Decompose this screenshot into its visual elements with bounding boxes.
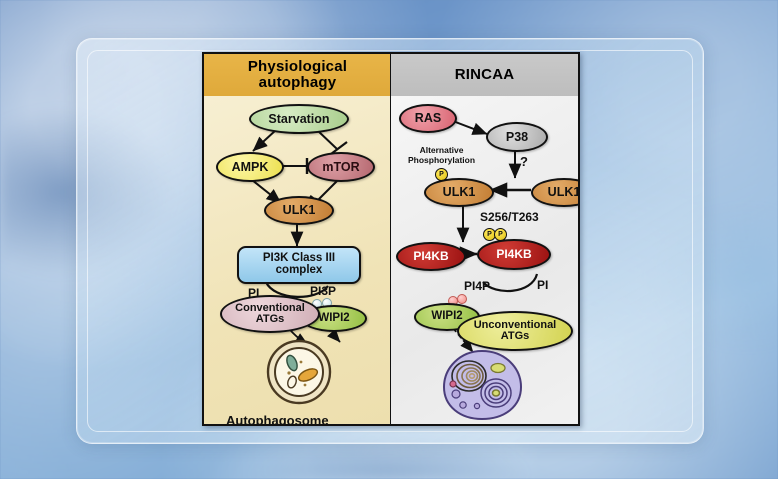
panel-left-title-line1: Physiological [248,58,347,75]
panel-left-body: Starvation AMPK mTOR ULK1 PI3K Class III… [204,96,391,424]
label-pi3p: PI3P [310,284,336,298]
node-pi3k-class-iii-complex[interactable]: PI3K Class III complex [237,246,361,284]
label-autophagosome: Autophagosome [226,413,329,424]
panel-physiological-autophagy: Physiological autophagy [204,54,391,424]
node-mtor-label: mTOR [322,161,359,174]
pathway-figure: Physiological autophagy [202,52,580,426]
node-pi3k-label-line1: PI3K Class III [263,252,335,264]
node-pi4kb-phospho[interactable]: PI4KB [477,239,551,270]
label-pi4p: PI4P [464,279,490,293]
node-p38-label: P38 [506,131,528,144]
node-conventional-atgs[interactable]: Conventional ATGs [220,295,320,333]
node-ras[interactable]: RAS [399,104,457,133]
annotation-alternative-phosphorylation: Alternative Phosphorylation [408,146,475,166]
node-conventional-atgs-line1: Conventional [235,302,305,314]
annotation-alt-phos-line2: Phosphorylation [408,155,475,165]
node-wipi2-right-label: WIPI2 [431,311,462,323]
node-mtor[interactable]: mTOR [307,152,375,182]
organelle-rimmba [439,348,525,422]
node-ampk-label: AMPK [232,161,269,174]
node-pi4kb-phospho-label: PI4KB [496,248,531,260]
label-pi-right: PI [537,278,548,292]
node-p38[interactable]: P38 [486,122,548,152]
node-starvation[interactable]: Starvation [249,104,349,134]
node-pi4kb[interactable]: PI4KB [396,242,466,271]
node-pi4kb-label: PI4KB [413,250,448,262]
panel-left-title: Physiological autophagy [204,54,391,98]
node-starvation-label: Starvation [268,113,329,126]
node-unconventional-atgs-line1: Unconventional [474,319,557,331]
annotation-phospho-sites: S256/T263 [480,210,539,224]
pi4p-dot-2 [457,294,467,304]
node-ulk1-phospho-label: ULK1 [443,186,476,199]
panel-left-title-line2: autophagy [259,74,337,91]
node-pi3k-label-line2: complex [276,264,323,276]
node-ampk[interactable]: AMPK [216,152,284,182]
annotation-alt-phos-line1: Alternative [420,145,464,155]
node-ras-label: RAS [415,112,441,125]
panel-right-body: RAS P38 Alternative Phosphorylation ? P … [391,96,578,424]
node-unconventional-atgs-line2: ATGs [501,330,530,342]
label-rimmba: RIMMBA [436,423,489,424]
organelle-autophagosome [261,338,337,410]
node-conventional-atgs-line2: ATGs [256,313,285,325]
panel-right-title: RINCAA [391,54,578,98]
node-ulk1[interactable]: ULK1 [264,196,334,225]
panel-right-title-line1: RINCAA [455,67,515,83]
node-wipi2-label: WIPI2 [318,313,349,325]
node-ulk1-label: ULK1 [283,204,316,217]
panel-rincaa: RINCAA [391,54,578,424]
node-unconventional-atgs[interactable]: Unconventional ATGs [457,311,573,351]
node-ulk1-phospho[interactable]: ULK1 [424,178,494,207]
annotation-question-mark: ? [520,154,528,169]
node-ulk1-source-label: ULK1 [548,186,578,199]
